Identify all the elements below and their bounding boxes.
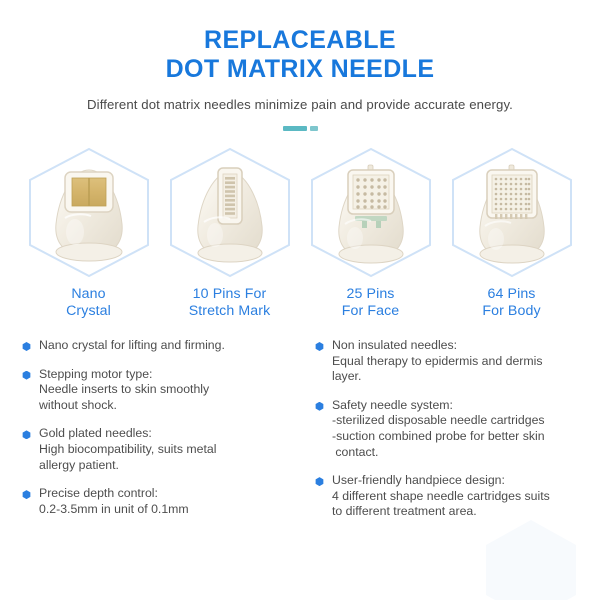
- feature-line: User-friendly handpiece design:: [332, 473, 584, 489]
- feature-line: contact.: [332, 445, 584, 461]
- feature-line: Needle inserts to skin smoothly: [39, 382, 293, 398]
- feature-item: Non insulated needles: Equal therapy to …: [315, 338, 584, 385]
- cartridge-image-64-pins: [466, 162, 558, 266]
- feature-line: Gold plated needles:: [39, 426, 293, 442]
- product-hex-frame: [165, 145, 295, 280]
- feature-lists: Nano crystal for lifting and firming. St…: [0, 338, 600, 533]
- feature-line: allergy patient.: [39, 458, 293, 474]
- product-caption-25-pins: 25 Pins For Face: [306, 286, 436, 320]
- product-card-64-pins[interactable]: 64 Pins For Body: [447, 145, 577, 320]
- feature-column-left: Nano crystal for lifting and firming. St…: [22, 338, 297, 533]
- product-hex-frame: [24, 145, 154, 280]
- divider-dash-long: [283, 126, 307, 131]
- feature-line: layer.: [332, 369, 584, 385]
- divider-dash-short: [310, 126, 318, 131]
- feature-line: to different treatment area.: [332, 504, 584, 520]
- product-hex-frame: [447, 145, 577, 280]
- feature-item: Nano crystal for lifting and firming.: [22, 338, 293, 354]
- feature-line: Precise depth control:: [39, 486, 293, 502]
- feature-line: Non insulated needles:: [332, 338, 584, 354]
- feature-item: Stepping motor type: Needle inserts to s…: [22, 367, 293, 414]
- product-hex-frame: [306, 145, 436, 280]
- cartridge-image-10-pins: [184, 162, 276, 266]
- bullet-hexagon-icon: [315, 477, 324, 486]
- feature-item: Safety needle system: -sterilized dispos…: [315, 398, 584, 460]
- feature-column-right: Non insulated needles: Equal therapy to …: [309, 338, 584, 533]
- feature-item: Gold plated needles: High biocompatibili…: [22, 426, 293, 473]
- feature-line: 0.2-3.5mm in unit of 0.1mm: [39, 502, 293, 518]
- feature-line: -suction combined probe for better skin: [332, 429, 584, 445]
- caption-line-2: Crystal: [66, 303, 111, 319]
- cartridge-image-25-pins: [325, 162, 417, 266]
- caption-line-1: 10 Pins For: [193, 286, 267, 302]
- bullet-hexagon-icon: [22, 342, 31, 351]
- feature-item: User-friendly handpiece design: 4 differ…: [315, 473, 584, 520]
- bullet-hexagon-icon: [22, 430, 31, 439]
- product-caption-nano-crystal: Nano Crystal: [24, 286, 154, 320]
- caption-line-1: Nano: [71, 286, 105, 302]
- feature-item: Precise depth control: 0.2-3.5mm in unit…: [22, 486, 293, 517]
- cartridge-image-nano-crystal: [43, 162, 135, 266]
- product-card-nano-crystal[interactable]: Nano Crystal: [24, 145, 154, 320]
- feature-line: High biocompatibility, suits metal: [39, 442, 293, 458]
- bullet-hexagon-icon: [22, 371, 31, 380]
- header: REPLACEABLE DOT MATRIX NEEDLE Different …: [0, 0, 600, 131]
- bullet-hexagon-icon: [315, 342, 324, 351]
- product-caption-64-pins: 64 Pins For Body: [447, 286, 577, 320]
- feature-line: 4 different shape needle cartridges suit…: [332, 489, 584, 505]
- caption-line-1: 25 Pins: [346, 286, 394, 302]
- infographic-page: REPLACEABLE DOT MATRIX NEEDLE Different …: [0, 0, 600, 600]
- caption-line-1: 64 Pins: [487, 286, 535, 302]
- bullet-hexagon-icon: [315, 402, 324, 411]
- caption-line-2: Stretch Mark: [189, 303, 271, 319]
- feature-line: Nano crystal for lifting and firming.: [39, 338, 293, 354]
- page-title-line-2: DOT MATRIX NEEDLE: [0, 55, 600, 84]
- bullet-hexagon-icon: [22, 490, 31, 499]
- page-title-line-1: REPLACEABLE: [0, 26, 600, 55]
- caption-line-2: For Body: [482, 303, 540, 319]
- feature-line: Safety needle system:: [332, 398, 584, 414]
- feature-line: -sterilized disposable needle cartridges: [332, 413, 584, 429]
- feature-line: Stepping motor type:: [39, 367, 293, 383]
- product-card-25-pins[interactable]: 25 Pins For Face: [306, 145, 436, 320]
- product-caption-10-pins: 10 Pins For Stretch Mark: [165, 286, 295, 320]
- product-gallery: Nano Crystal: [0, 145, 600, 320]
- page-subtitle: Different dot matrix needles minimize pa…: [0, 97, 600, 112]
- product-card-10-pins[interactable]: 10 Pins For Stretch Mark: [165, 145, 295, 320]
- caption-line-2: For Face: [342, 303, 400, 319]
- feature-line: Equal therapy to epidermis and dermis: [332, 354, 584, 370]
- feature-line: without shock.: [39, 398, 293, 414]
- section-divider: [279, 125, 321, 131]
